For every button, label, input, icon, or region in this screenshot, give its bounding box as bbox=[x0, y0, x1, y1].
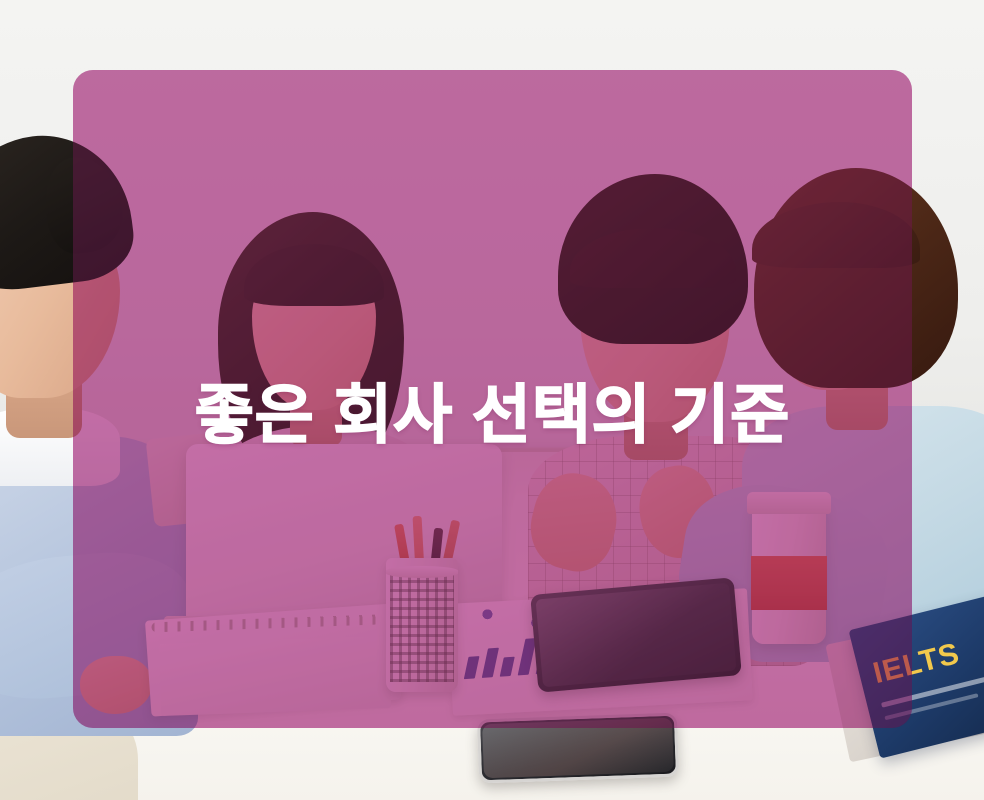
hero-banner: IELTS 좋은 회사 선택의 기준 bbox=[0, 0, 984, 800]
magenta-overlay-tone bbox=[73, 70, 912, 728]
